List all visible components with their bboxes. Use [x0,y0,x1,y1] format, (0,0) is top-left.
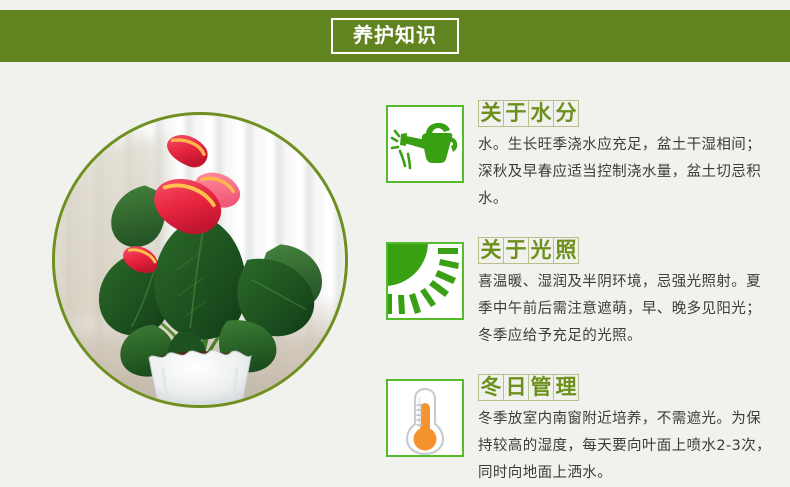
care-sections: 关 于 水 分 水。生长旺季浇水应充足，盆土干湿相间；深秋及早春应适当控制浇水量… [386,100,778,487]
title-char: 管 [529,375,554,400]
care-section-winter: 冬 日 管 理 冬季放室内南窗附近培养，不需遮光。为保持较高的湿度，每天要向叶面… [386,374,778,487]
watering-can-icon [388,107,462,181]
anthurium-plant-illustration [55,115,345,405]
light-section-body: 关 于 光 照 喜温暖、湿润及半阴环境，忌强光照射。夏季中午前后需注意遮萌，早、… [478,237,778,350]
title-char: 关 [479,238,504,263]
title-char: 于 [504,101,529,126]
plant-photo-inner [55,115,345,405]
title-char: 理 [554,375,579,400]
flower-top [167,135,208,167]
water-section-body: 关 于 水 分 水。生长旺季浇水应充足，盆土干湿相间；深秋及早春应适当控制浇水量… [478,100,778,213]
water-section-title: 关 于 水 分 [478,100,579,127]
title-char: 照 [554,238,579,263]
care-section-light: 关 于 光 照 喜温暖、湿润及半阴环境，忌强光照射。夏季中午前后需注意遮萌，早、… [386,237,778,350]
water-section-text: 水。生长旺季浇水应充足，盆土干湿相间；深秋及早春应适当控制浇水量，盆土切忌积水。 [478,132,774,213]
thermometer-icon [388,381,462,455]
winter-section-body: 冬 日 管 理 冬季放室内南窗附近培养，不需遮光。为保持较高的湿度，每天要向叶面… [478,374,778,487]
title-char: 关 [479,101,504,126]
title-char: 水 [529,101,554,126]
winter-section-title: 冬 日 管 理 [478,374,579,401]
thermometer-icon-box [386,379,464,457]
light-section-text: 喜温暖、湿润及半阴环境，忌强光照射。夏季中午前后需注意遮萌，早、晚多见阳光；冬季… [478,269,774,350]
title-char: 日 [504,375,529,400]
title-char: 于 [504,238,529,263]
plant-photo [52,112,348,408]
light-section-title: 关 于 光 照 [478,237,579,264]
header-banner: 养护知识 [0,10,790,62]
title-char: 分 [554,101,579,126]
sun-icon [388,244,462,318]
page-title: 养护知识 [353,25,437,45]
content-area: 关 于 水 分 水。生长旺季浇水应充足，盆土干湿相间；深秋及早春应适当控制浇水量… [0,62,790,487]
care-section-water: 关 于 水 分 水。生长旺季浇水应充足，盆土干湿相间；深秋及早春应适当控制浇水量… [386,100,778,213]
title-char: 光 [529,238,554,263]
sun-icon-box [386,242,464,320]
page-title-box: 养护知识 [331,18,459,54]
winter-section-text: 冬季放室内南窗附近培养，不需遮光。为保持较高的湿度，每天要向叶面上喷水2-3次，… [478,406,774,487]
title-char: 冬 [479,375,504,400]
watering-can-icon-box [386,105,464,183]
